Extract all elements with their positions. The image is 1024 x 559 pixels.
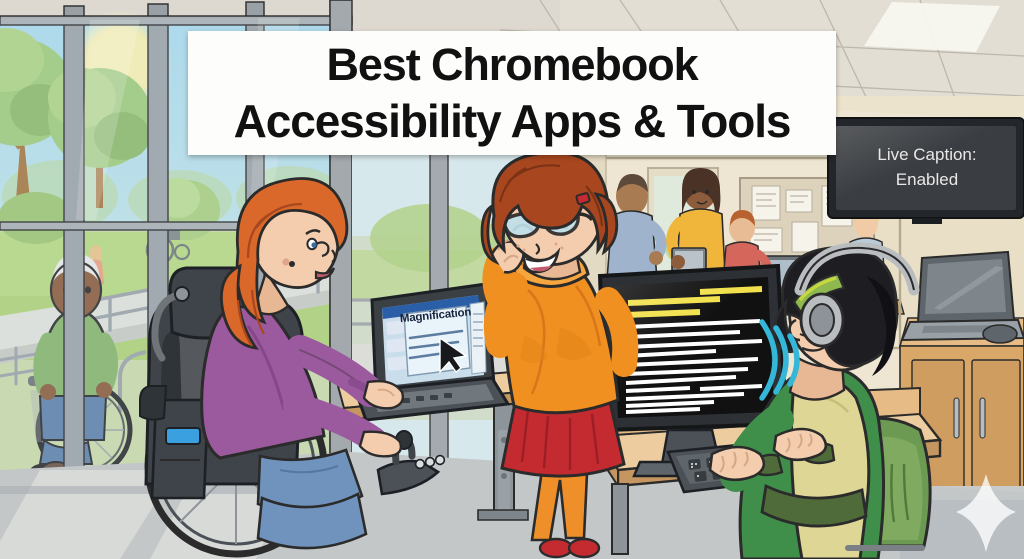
mouse <box>983 325 1017 343</box>
battery-indicator <box>166 428 200 444</box>
illustration-canvas: Best Chromebook Accessibility Apps & Too… <box>0 0 1024 559</box>
title-banner: Best Chromebook Accessibility Apps & Too… <box>188 31 836 155</box>
title-line-1: Best Chromebook <box>326 37 697 93</box>
title-line-2: Accessibility Apps & Tools <box>234 93 791 149</box>
wall-tv <box>828 118 1024 224</box>
hair-clip <box>576 193 590 205</box>
